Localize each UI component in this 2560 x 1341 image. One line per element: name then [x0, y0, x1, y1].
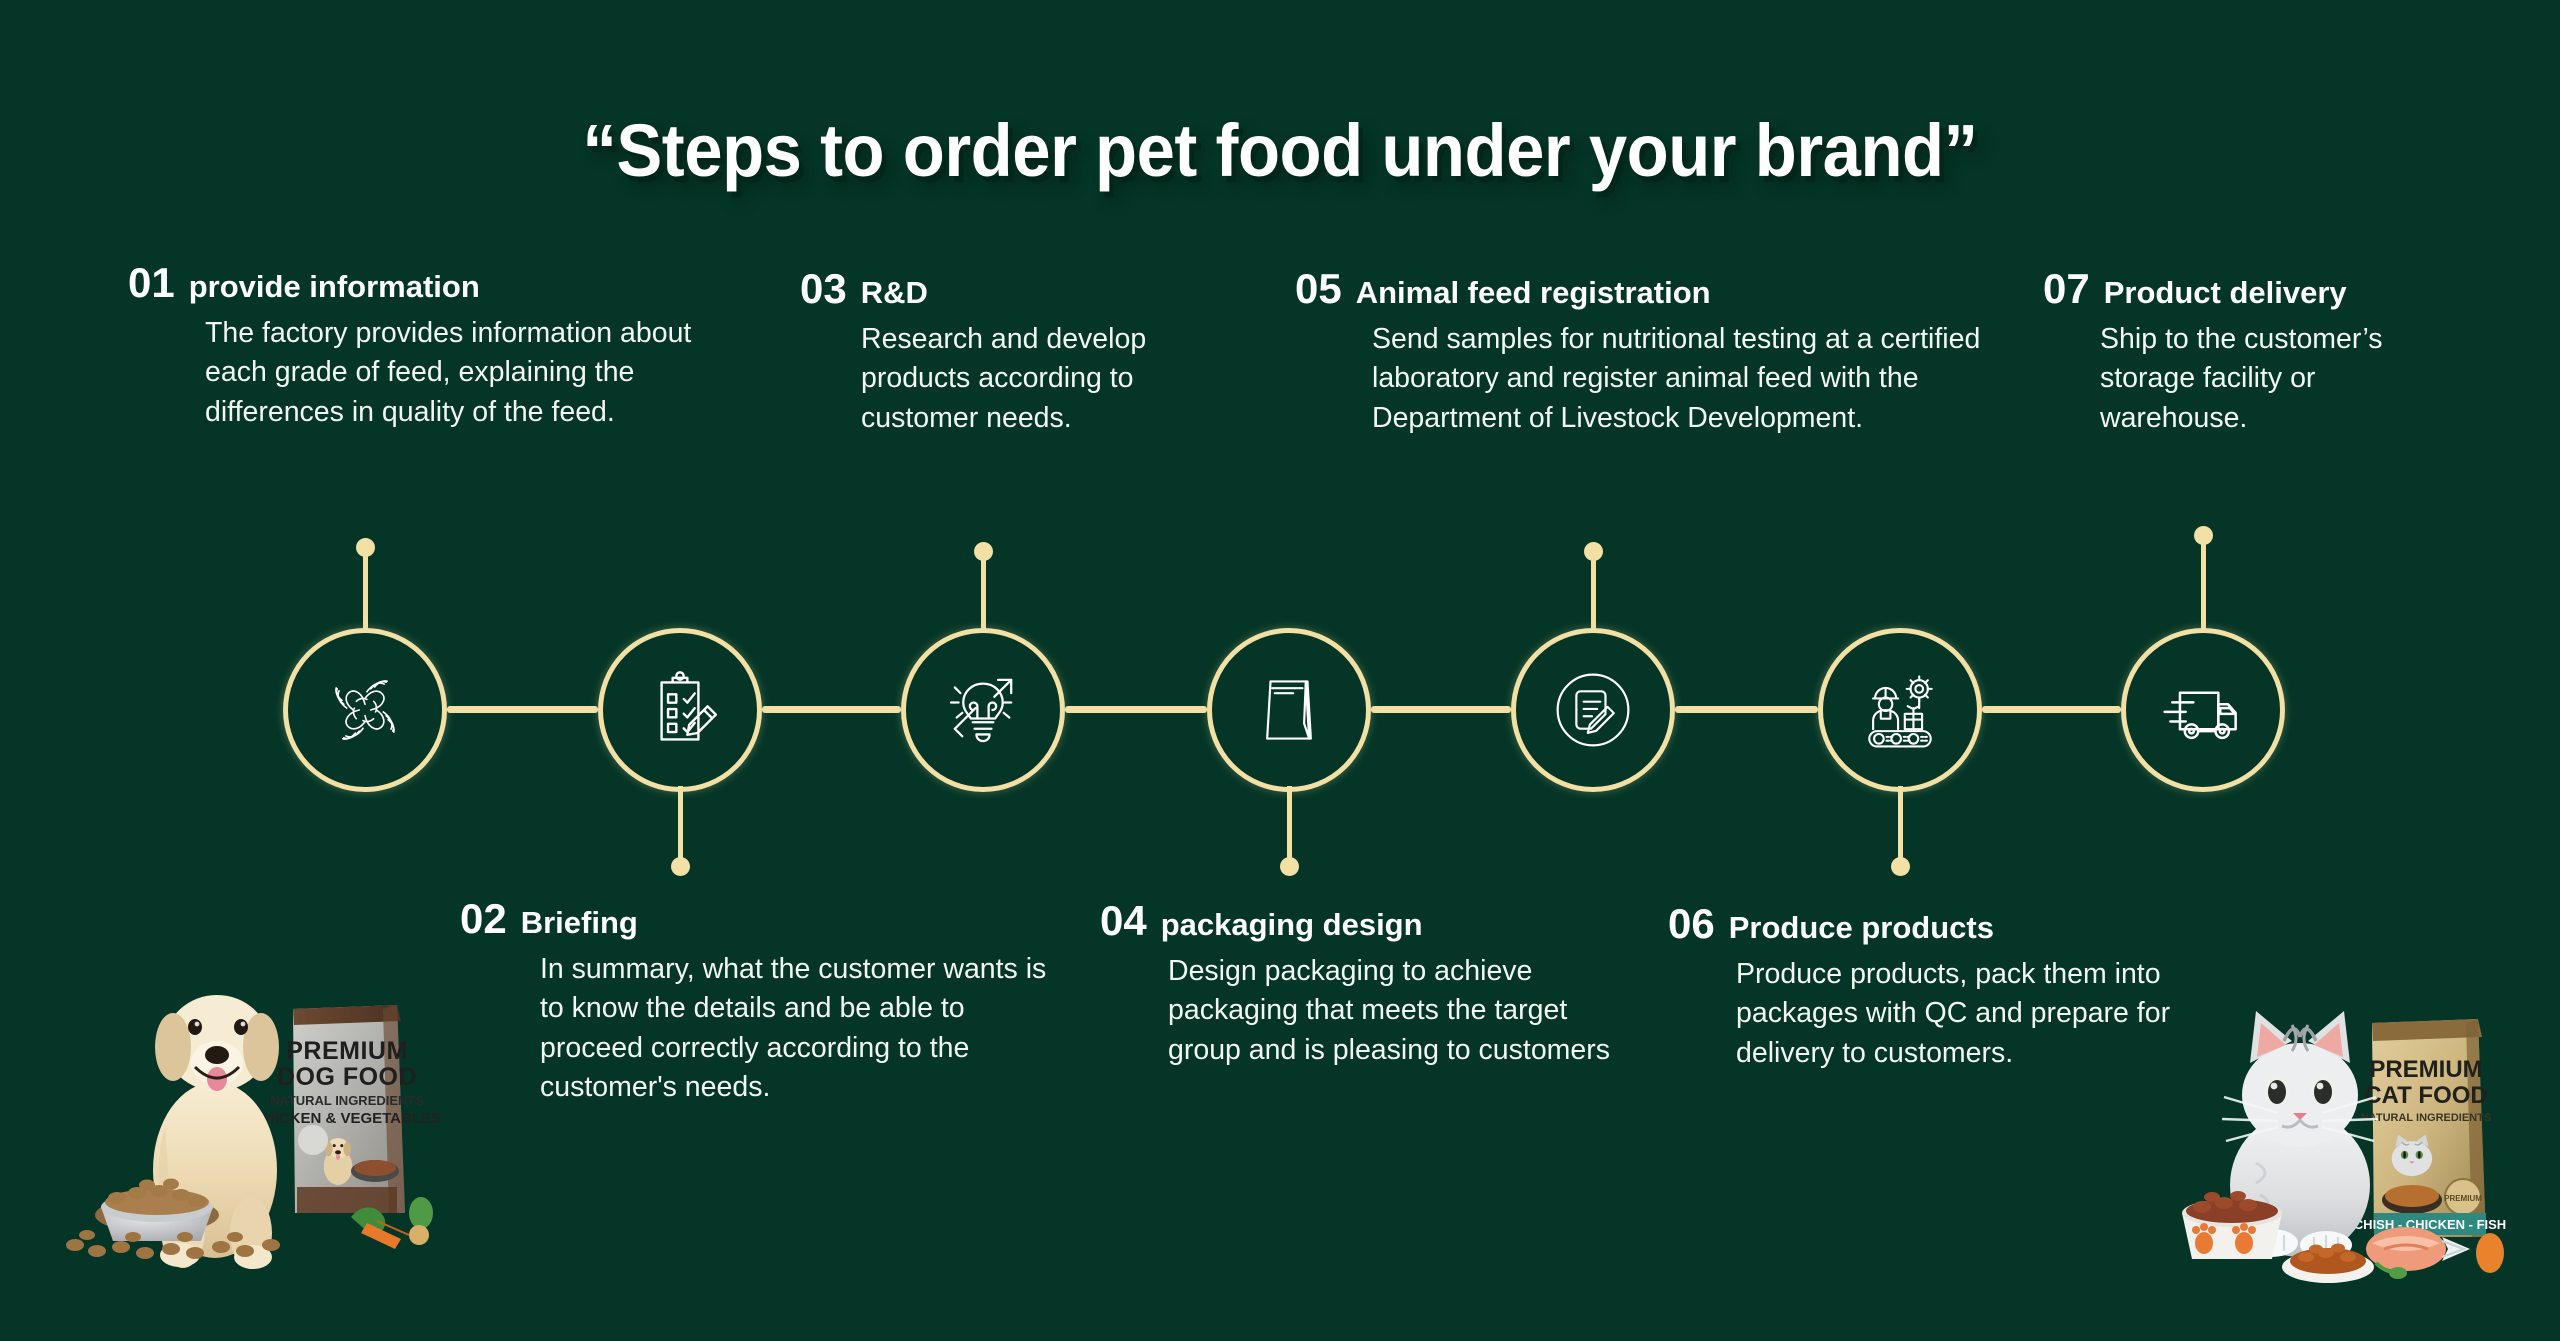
stem-step-5	[1591, 552, 1596, 630]
dog-photo: PREMIUM DOG FOOD NATURAL INGREDIENTS CHI…	[45, 955, 465, 1285]
step-3-heading: 03 R&D	[800, 268, 1150, 310]
delivery-truck-icon	[2155, 662, 2251, 758]
timeline-node-4[interactable]	[1207, 628, 1371, 792]
step-7-number: 07	[2043, 268, 2090, 310]
clipboard-checklist-pencil-icon	[634, 664, 726, 756]
teamwork-hands-icon	[317, 662, 413, 758]
step-2-description: In summary, what the customer wants is t…	[540, 950, 1050, 1107]
step-4-number: 04	[1100, 900, 1147, 942]
step-7-heading: 07 Product delivery	[2043, 268, 2463, 310]
step-5-description: Send samples for nutritional testing at …	[1372, 320, 1992, 438]
step-5-title: Animal feed registration	[1356, 276, 1711, 310]
svg-text:NATURAL INGREDIENTS: NATURAL INGREDIENTS	[2361, 1112, 2491, 1124]
stem-dot-step-4	[1280, 857, 1299, 876]
stem-step-3	[981, 552, 986, 630]
stem-dot-step-1	[356, 538, 375, 557]
connector-4-5	[1371, 706, 1511, 713]
step-block-3: 03 R&D Research and develop products acc…	[800, 268, 1150, 438]
step-1-heading: 01 provide information	[128, 262, 688, 304]
step-6-heading: 06 Produce products	[1668, 903, 2198, 945]
stem-dot-step-7	[2194, 526, 2213, 545]
svg-text:PREMIUM: PREMIUM	[2369, 1056, 2482, 1083]
document-pen-circle-icon	[1541, 658, 1645, 762]
dog-food-bag: PREMIUM DOG FOOD NATURAL INGREDIENTS CHI…	[253, 1005, 441, 1213]
connector-6-7	[1982, 706, 2121, 713]
step-4-description: Design packaging to achieve packaging th…	[1168, 952, 1648, 1070]
food-bag-icon	[1247, 668, 1331, 752]
cat-food-bag: PREMIUM CAT FOOD NATURAL INGREDIENTS	[2354, 1019, 2506, 1237]
step-block-1: 01 provide information The factory provi…	[128, 262, 688, 432]
stem-dot-step-6	[1891, 857, 1910, 876]
step-3-title: R&D	[861, 276, 928, 310]
step-1-title: provide information	[189, 270, 480, 304]
step-block-6: 06 Produce products Produce products, pa…	[1668, 903, 2198, 1073]
stem-dot-step-2	[671, 857, 690, 876]
stem-dot-step-3	[974, 542, 993, 561]
step-2-heading: 02 Briefing	[460, 898, 1040, 940]
step-2-title: Briefing	[521, 906, 638, 940]
connector-2-3	[762, 706, 901, 713]
stem-step-7	[2201, 536, 2206, 630]
step-block-2: 02 Briefing In summary, what the custome…	[460, 898, 1040, 1107]
step-6-number: 06	[1668, 903, 1715, 945]
step-7-title: Product delivery	[2104, 276, 2347, 310]
step-1-number: 01	[128, 262, 175, 304]
step-6-title: Produce products	[1729, 911, 1994, 945]
step-block-4: 04 packaging design Design packaging to …	[1100, 900, 1630, 1070]
timeline-node-5[interactable]	[1511, 628, 1675, 792]
svg-text:DOG FOOD: DOG FOOD	[277, 1063, 417, 1091]
step-3-number: 03	[800, 268, 847, 310]
step-6-description: Produce products, pack them into package…	[1736, 955, 2206, 1073]
step-5-number: 05	[1295, 268, 1342, 310]
svg-text:PREMIUM: PREMIUM	[2444, 1194, 2482, 1203]
svg-text:CAT FOOD: CAT FOOD	[2364, 1082, 2488, 1109]
timeline-node-2[interactable]	[598, 628, 762, 792]
timeline-node-1[interactable]	[283, 628, 447, 792]
svg-text:CHISH - CHICKEN - FISH: CHISH - CHICKEN - FISH	[2354, 1217, 2506, 1232]
svg-text:NATURAL INGREDIENTS: NATURAL INGREDIENTS	[270, 1093, 424, 1108]
timeline-node-3[interactable]	[901, 628, 1065, 792]
stem-step-4	[1287, 786, 1292, 864]
connector-5-6	[1675, 706, 1818, 713]
stem-step-1	[363, 548, 368, 630]
step-3-description: Research and develop products according …	[861, 320, 1171, 438]
svg-text:PREMIUM: PREMIUM	[286, 1037, 408, 1065]
stem-step-6	[1898, 786, 1903, 864]
stem-step-2	[678, 786, 683, 864]
connector-3-4	[1065, 706, 1207, 713]
step-block-5: 05 Animal feed registration Send samples…	[1295, 268, 1945, 438]
timeline-node-7[interactable]	[2121, 628, 2285, 792]
page-title: “Steps to order pet food under your bran…	[90, 108, 2471, 193]
step-1-description: The factory provides information about e…	[205, 314, 750, 432]
step-7-description: Ship to the customer’s storage facility …	[2100, 320, 2440, 438]
step-block-7: 07 Product delivery Ship to the customer…	[2043, 268, 2463, 438]
svg-text:CHICKEN & VEGETABLES: CHICKEN & VEGETABLES	[253, 1110, 441, 1127]
factory-worker-conveyor-gear-icon	[1852, 662, 1948, 758]
lightbulb-growth-arrow-icon	[936, 663, 1030, 757]
step-2-number: 02	[460, 898, 507, 940]
timeline-node-6[interactable]	[1818, 628, 1982, 792]
cat-photo: PREMIUM CAT FOOD NATURAL INGREDIENTS	[2160, 985, 2560, 1285]
step-4-title: packaging design	[1161, 908, 1423, 942]
infographic-canvas: “Steps to order pet food under your bran…	[0, 0, 2560, 1341]
connector-1-2	[447, 706, 598, 713]
stem-dot-step-5	[1584, 542, 1603, 561]
step-4-heading: 04 packaging design	[1100, 900, 1630, 942]
step-5-heading: 05 Animal feed registration	[1295, 268, 1945, 310]
